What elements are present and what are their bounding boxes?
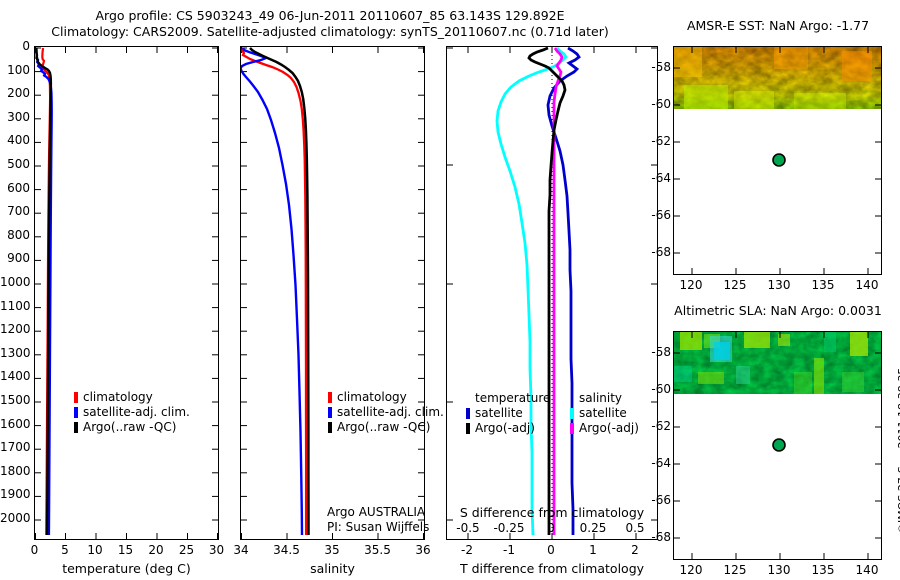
sst-map-axes [673,46,882,275]
legend-swatch-argo-raw [74,422,78,433]
sla-map-xtick-135: 135 [808,563,838,577]
legend-swatch-spacer-salinity [570,393,574,404]
difference-top-xtick--0-25: -0.25 [488,521,530,535]
temperature-xtick-30: 30 [207,543,227,557]
legend-label-satellite-adj-clim-salinity: satellite-adj. clim. [337,405,444,420]
sst-map-xtick-135: 135 [808,278,838,292]
legend-label-argo-raw-salinity: Argo(..raw -QC) [337,420,430,435]
temperature-xtick-20: 20 [146,543,166,557]
temperature-xtick-5: 5 [55,543,75,557]
legend-label-temperature-satellite: satellite [475,406,523,421]
difference-bottom-xtick-0: 0 [536,543,566,557]
temperature-ytick-1500: 1500 [0,393,30,407]
figure-title: Argo profile: CS 5903243_49 06-Jun-2011 … [0,8,660,40]
sst-map-ytick--58: -58 [645,60,671,74]
legend-swatch-satellite-adj-clim [74,407,78,418]
annotation-pi: PI: Susan Wijffels [327,520,429,535]
legend-header-temperature: temperature [466,391,550,406]
legend-label-salinity-header: salinity [579,391,622,406]
legend-swatch-argo-raw-salinity [328,422,332,433]
difference-legend-temperature: temperature satellite Argo(-adj) [466,391,550,436]
temperature-ytick-400: 400 [0,133,30,147]
series-argo-raw-salinity [250,48,309,535]
salinity-depth-ticks [241,48,424,520]
legend-item-temperature-argo-adj: Argo(-adj) [466,421,550,436]
sla-map-plot [674,332,881,559]
sla-map-ytick--60: -60 [645,382,671,396]
sst-map-xtick-130: 130 [764,278,794,292]
temperature-ytick-1700: 1700 [0,440,30,454]
sla-raster [674,332,881,394]
sst-map-title: AMSR-E SST: NaN Argo: -1.77 [668,18,888,33]
sla-map-xtick-125: 125 [720,563,750,577]
salinity-tick-marks [242,47,424,539]
temperature-ytick-600: 600 [0,181,30,195]
sla-map-xtick-140: 140 [852,563,882,577]
sla-map-xtick-120: 120 [676,563,706,577]
series-temperature-argo-adj-difference [529,48,565,535]
legend-item-argo-raw: Argo(..raw -QC) [74,420,190,435]
sst-map-xtick-120: 120 [676,278,706,292]
sst-map-xtick-140: 140 [852,278,882,292]
temperature-xtick-15: 15 [116,543,136,557]
salinity-legend: climatology satellite-adj. clim. Argo(..… [328,390,444,435]
legend-swatch-temperature-satellite [466,408,470,419]
difference-bottom-xtick-2: 2 [620,543,650,557]
salinity-xaxis-label: salinity [240,561,425,576]
temperature-ytick-100: 100 [0,63,30,77]
difference-top-xtick--0-5: -0.5 [447,521,489,535]
salinity-xtick-35-5: 35.5 [363,543,393,557]
legend-label-temperature-header: temperature [475,391,550,406]
legend-label-temperature-argo-adj: Argo(-adj) [475,421,535,436]
temperature-ytick-1000: 1000 [0,275,30,289]
temperature-ytick-1900: 1900 [0,487,30,501]
temperature-tick-marks [36,47,218,539]
legend-swatch-salinity-satellite [570,408,574,419]
temperature-ytick-1200: 1200 [0,322,30,336]
sst-map-ytick--60: -60 [645,97,671,111]
salinity-xtick-36: 36 [408,543,438,557]
difference-top-xtick-0-25: 0.25 [572,521,614,535]
legend-label-satellite-adj-clim: satellite-adj. clim. [83,405,190,420]
legend-label-climatology: climatology [83,390,153,405]
sst-map-ytick--66: -66 [645,208,671,222]
title-line-1: Argo profile: CS 5903243_49 06-Jun-2011 … [0,8,660,24]
sst-map-ytick--68: -68 [645,245,671,259]
legend-label-salinity-satellite: satellite [579,406,627,421]
temperature-ytick-1400: 1400 [0,369,30,383]
temperature-ytick-1600: 1600 [0,417,30,431]
temperature-ytick-200: 200 [0,86,30,100]
sla-map-ytick--58: -58 [645,345,671,359]
title-line-2: Climatology: CARS2009. Satellite-adjuste… [0,24,660,40]
legend-item-satellite-adj-clim-salinity: satellite-adj. clim. [328,405,444,420]
legend-item-temperature-satellite: satellite [466,406,550,421]
sla-map-title: Altimetric SLA: NaN Argo: 0.0031 [668,303,888,318]
difference-plot [447,47,657,539]
temperature-xaxis-label: temperature (deg C) [34,561,219,576]
sst-map-plot [674,47,881,274]
sst-map-ytick--62: -62 [645,134,671,148]
sla-map-ytick--68: -68 [645,530,671,544]
sst-map-ytick--64: -64 [645,171,671,185]
temperature-plot [35,47,218,539]
temperature-ytick-300: 300 [0,110,30,124]
legend-item-salinity-argo-adj: Argo(-adj) [570,421,639,436]
legend-swatch-spacer-temperature [466,393,470,404]
legend-swatch-salinity-argo-adj [570,423,574,434]
salinity-xtick-34-5: 34.5 [272,543,302,557]
sst-map-xtick-125: 125 [720,278,750,292]
temperature-ytick-700: 700 [0,204,30,218]
difference-depth-ticks [447,48,657,520]
temperature-xtick-0: 0 [25,543,45,557]
legend-swatch-satellite-adj-clim-salinity [328,407,332,418]
temperature-xtick-10: 10 [85,543,105,557]
temperature-axes [34,46,219,540]
sst-raster [674,47,881,109]
legend-item-climatology-salinity: climatology [328,390,444,405]
difference-bottom-xtick--1: -1 [494,543,524,557]
difference-top-axis-label: S difference from climatology [446,505,658,520]
legend-swatch-climatology [74,392,78,403]
temperature-ytick-0: 0 [0,39,30,53]
sla-map-xtick-130: 130 [764,563,794,577]
temperature-ytick-900: 900 [0,251,30,265]
legend-item-climatology: climatology [74,390,190,405]
legend-header-salinity: salinity [570,391,639,406]
temperature-ytick-1800: 1800 [0,464,30,478]
sla-map-axes [673,331,882,560]
difference-bottom-xtick--2: -2 [452,543,482,557]
series-satellite-adj-clim-salinity [241,48,302,535]
argo-australia-annotation: Argo AUSTRALIA PI: Susan Wijffels [327,505,429,535]
temperature-legend: climatology satellite-adj. clim. Argo(..… [74,390,190,435]
temperature-depth-ticks [35,48,218,520]
temperature-ytick-500: 500 [0,157,30,171]
argo-position-marker-sla [773,439,785,451]
legend-item-argo-raw-salinity: Argo(..raw -QC) [328,420,444,435]
difference-axes [446,46,658,540]
sla-map-ytick--66: -66 [645,493,671,507]
sla-map-ytick--64: -64 [645,456,671,470]
temperature-xtick-25: 25 [177,543,197,557]
temperature-ytick-1100: 1100 [0,299,30,313]
legend-label-argo-raw: Argo(..raw -QC) [83,420,176,435]
legend-swatch-climatology-salinity [328,392,332,403]
legend-swatch-temperature-argo-adj [466,423,470,434]
salinity-axes [240,46,425,540]
figure-root: Argo profile: CS 5903243_49 06-Jun-2011 … [0,0,900,580]
legend-label-climatology-salinity: climatology [337,390,407,405]
legend-item-salinity-satellite: satellite [570,406,639,421]
legend-label-salinity-argo-adj: Argo(-adj) [579,421,639,436]
difference-bottom-xtick-1: 1 [578,543,608,557]
imos-watermark: ©IMOS 27-Sep-2011 18:38:35 [896,368,900,534]
legend-item-satellite-adj-clim: satellite-adj. clim. [74,405,190,420]
temperature-ytick-2000: 2000 [0,511,30,525]
difference-top-xtick-0: 0 [530,521,572,535]
temperature-ytick-1300: 1300 [0,346,30,360]
sla-map-ytick--62: -62 [645,419,671,433]
difference-legend-salinity: salinity satellite Argo(-adj) [570,391,639,436]
annotation-program: Argo AUSTRALIA [327,505,429,520]
salinity-plot [241,47,424,539]
temperature-ytick-800: 800 [0,228,30,242]
argo-position-marker [773,154,785,166]
salinity-xtick-34: 34 [226,543,256,557]
salinity-xtick-35: 35 [317,543,347,557]
difference-bottom-axis-label: T difference from climatology [446,561,658,576]
